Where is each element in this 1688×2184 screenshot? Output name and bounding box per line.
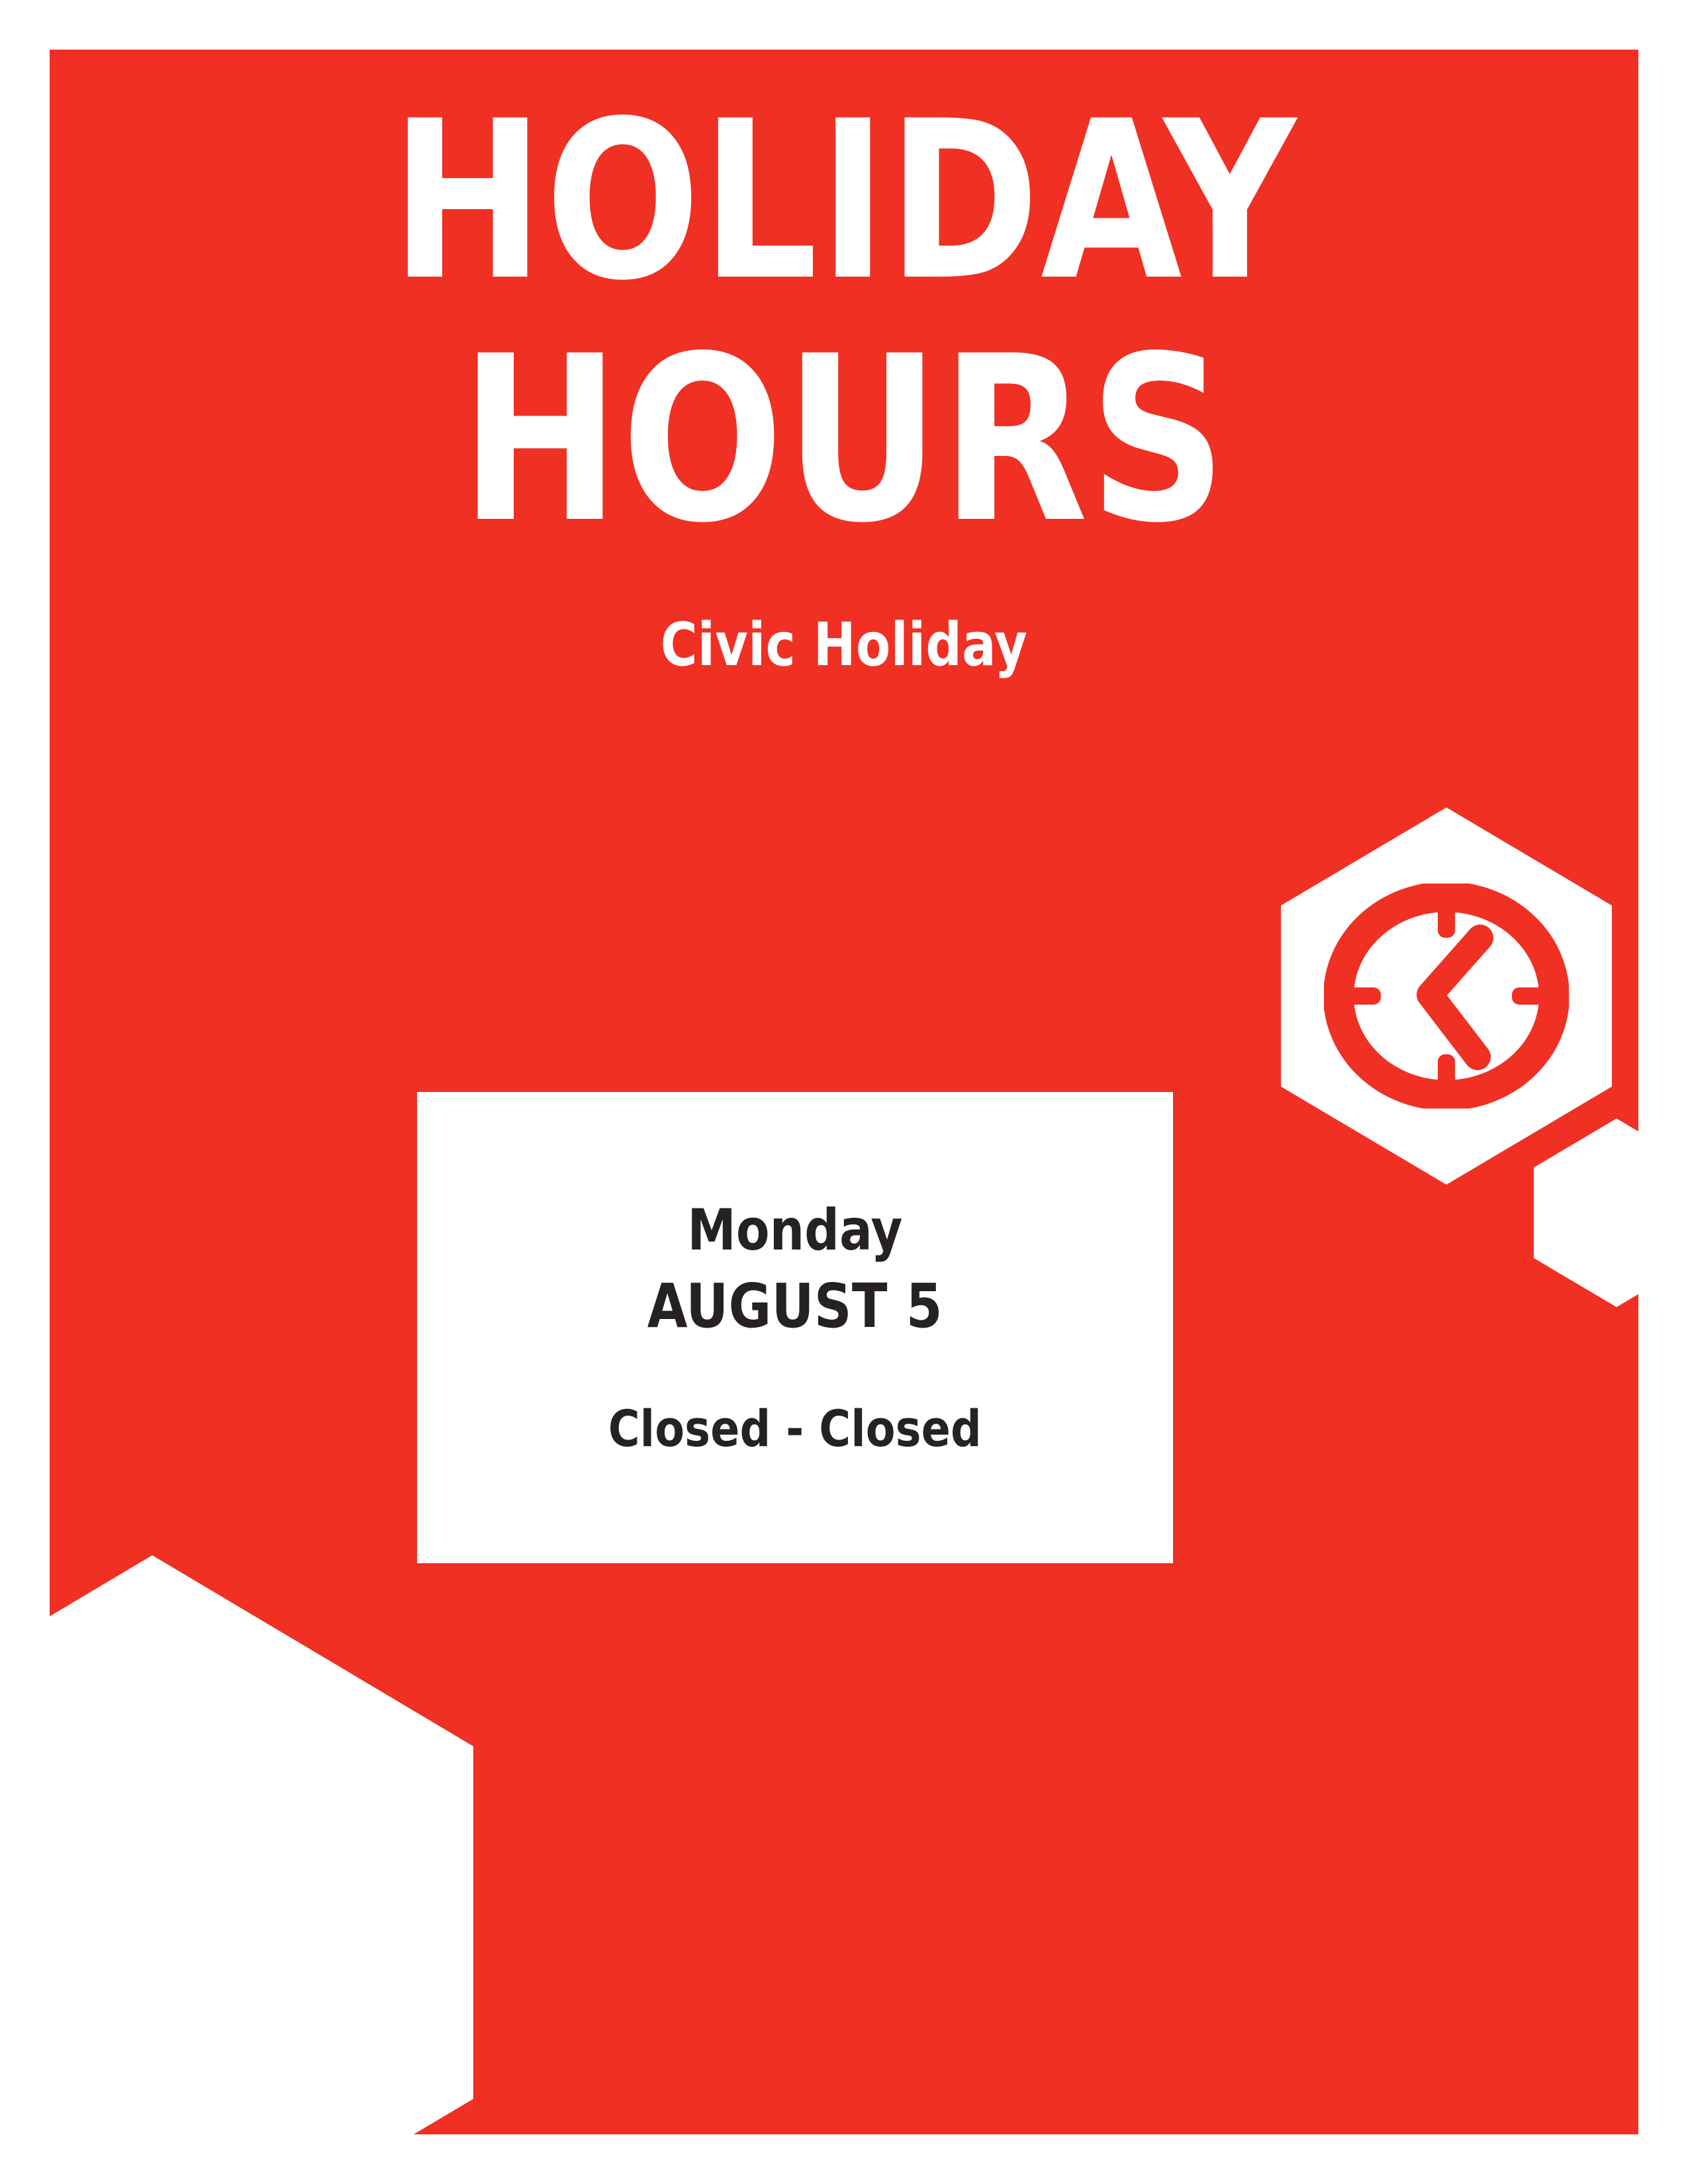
hexagon-icon — [1534, 1118, 1638, 1307]
schedule-card: Monday AUGUST 5 Closed - Closed — [417, 1092, 1173, 1563]
page-title-line-2: HOURS — [105, 336, 1583, 545]
hexagon-icon — [50, 1555, 473, 2134]
clock-icon — [1324, 884, 1569, 1109]
holiday-hours-poster: HOLIDAY HOURS Civic Holiday Monday AUGUS… — [0, 0, 1688, 2184]
schedule-date: AUGUST 5 — [647, 1275, 943, 1339]
page-subtitle: Civic Holiday — [97, 615, 1591, 675]
page-title-line-1: HOLIDAY — [105, 101, 1583, 302]
schedule-day: Monday — [687, 1201, 902, 1260]
schedule-hours: Closed - Closed — [608, 1402, 982, 1455]
